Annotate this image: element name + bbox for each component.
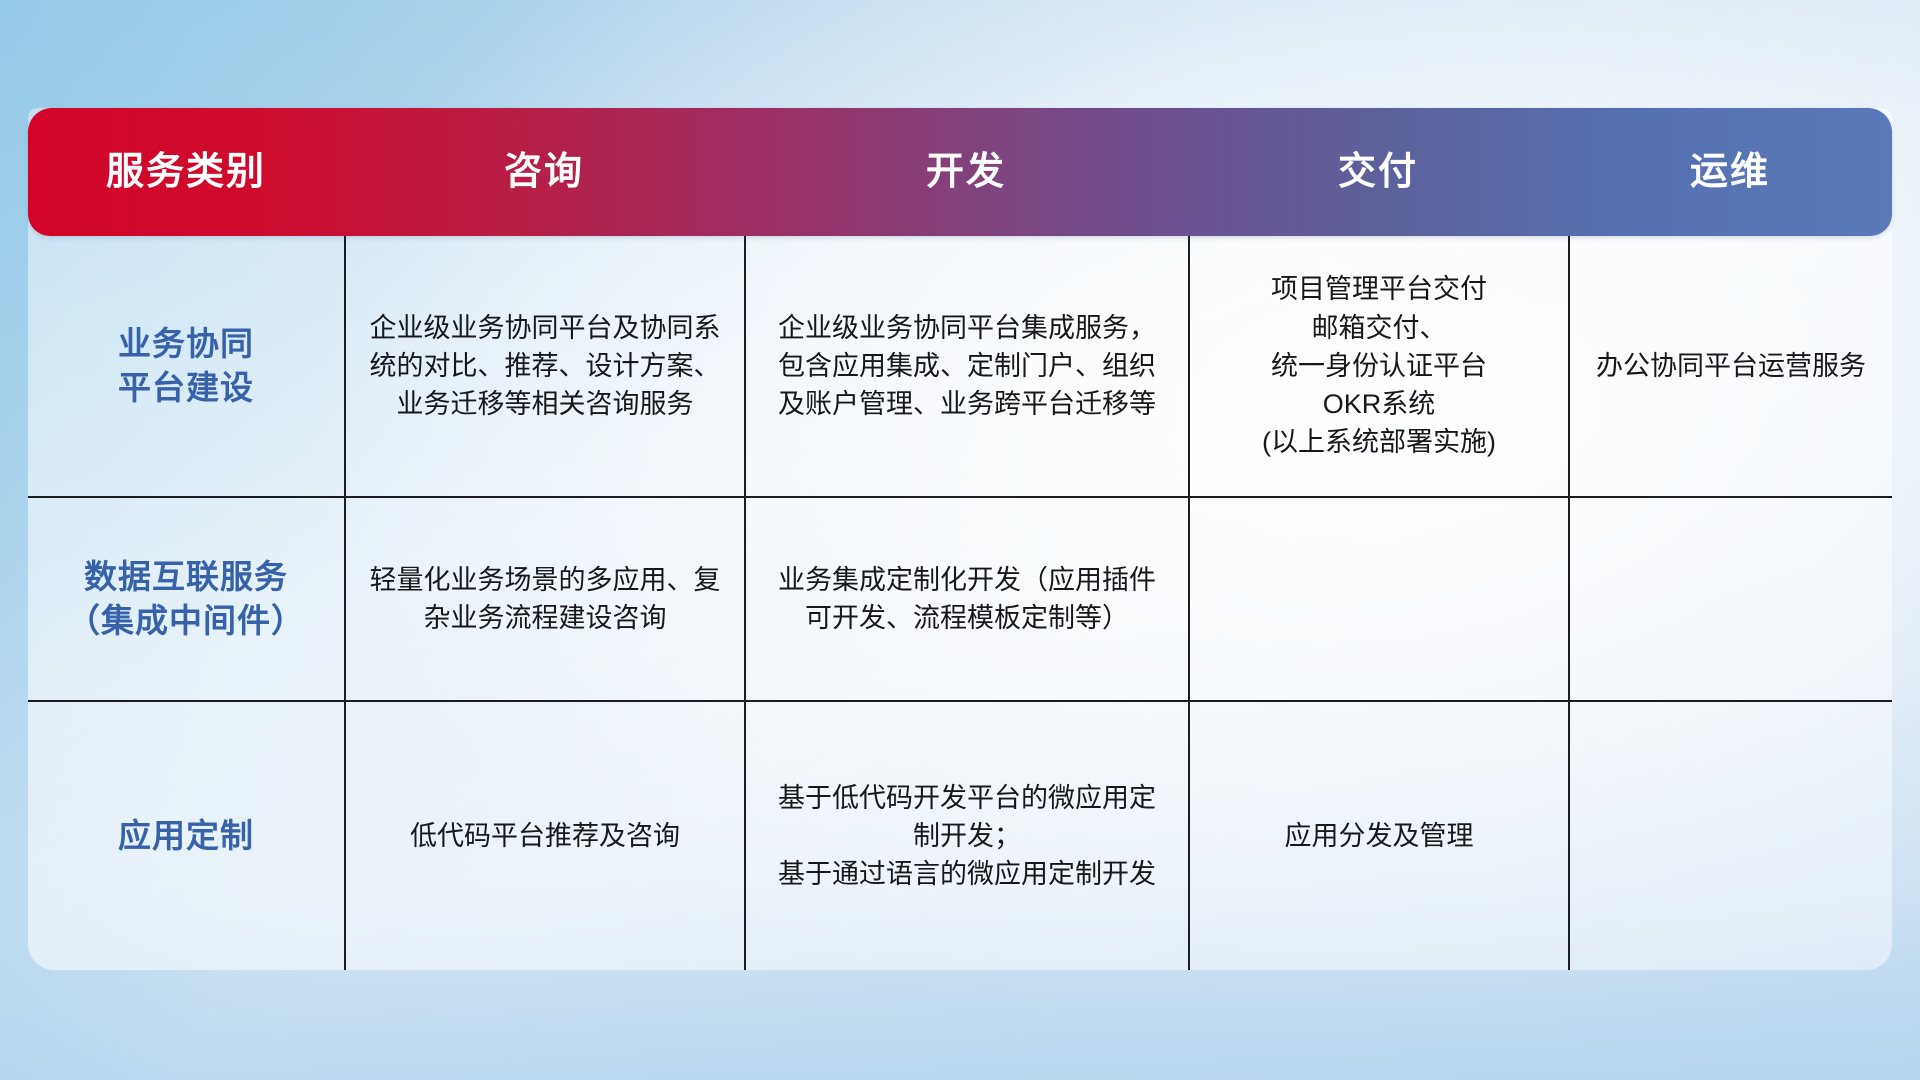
table-row-2-operations [1568, 496, 1892, 700]
table-row-3-delivery: 应用分发及管理 [1188, 700, 1568, 970]
table-row-1-development: 企业级业务协同平台集成服务， 包含应用集成、定制门户、组织 及账户管理、业务跨平… [744, 236, 1188, 496]
table-row-1-label: 业务协同 平台建设 [28, 236, 344, 496]
table-row-3-development: 基于低代码开发平台的微应用定 制开发； 基于通过语言的微应用定制开发 [744, 700, 1188, 970]
table-row-3-operations [1568, 700, 1892, 970]
table-header-row: 服务类别 咨询 开发 交付 运维 [28, 108, 1892, 236]
table-header-development: 开发 [744, 153, 1188, 191]
table-row-2-delivery [1188, 496, 1568, 700]
table-header-service-category: 服务类别 [28, 153, 344, 191]
table-row-1-operations: 办公协同平台运营服务 [1568, 236, 1892, 496]
table-header-operations: 运维 [1568, 153, 1892, 191]
table-row-2-label: 数据互联服务 （集成中间件） [28, 496, 344, 700]
table-row-1-consulting: 企业级业务协同平台及协同系 统的对比、推荐、设计方案、 业务迁移等相关咨询服务 [344, 236, 744, 496]
table-row-3-consulting: 低代码平台推荐及咨询 [344, 700, 744, 970]
table-header-consulting: 咨询 [344, 153, 744, 191]
table-row-1-delivery: 项目管理平台交付 邮箱交付、 统一身份认证平台 OKR系统 (以上系统部署实施) [1188, 236, 1568, 496]
table-row-2-consulting: 轻量化业务场景的多应用、复 杂业务流程建设咨询 [344, 496, 744, 700]
table-header-delivery: 交付 [1188, 153, 1568, 191]
table-row-2-development: 业务集成定制化开发（应用插件 可开发、流程模板定制等） [744, 496, 1188, 700]
table-row-3-label: 应用定制 [28, 700, 344, 970]
table-body-grid: 业务协同 平台建设 企业级业务协同平台及协同系 统的对比、推荐、设计方案、 业务… [28, 236, 1892, 970]
service-matrix-table: 服务类别 咨询 开发 交付 运维 业务协同 平台建设 企业级业务协同平台及协同系… [28, 108, 1892, 970]
